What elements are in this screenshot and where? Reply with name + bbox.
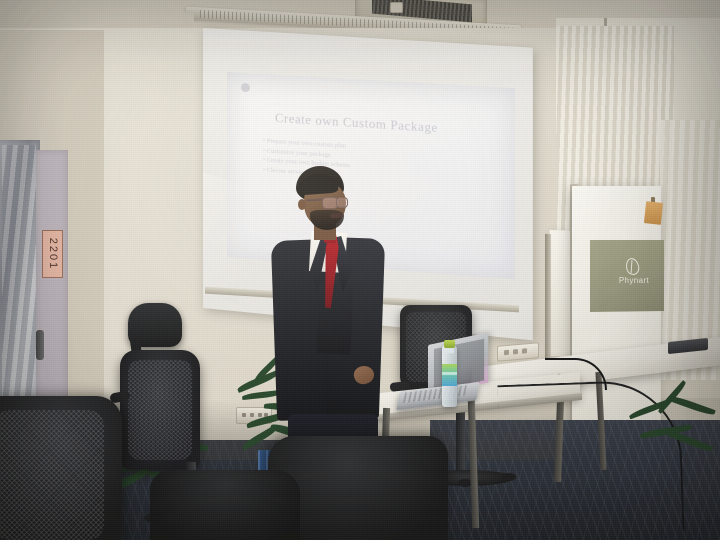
sticky-note <box>644 201 663 225</box>
water-bottle-cap[interactable] <box>444 340 455 348</box>
flipchart-edge <box>545 234 551 360</box>
office-chair-foreground[interactable] <box>150 470 300 540</box>
projector-screen-fold <box>203 172 239 304</box>
socket-hole-icon <box>504 350 509 355</box>
brand-name: Phynart <box>612 276 656 285</box>
socket-hole-icon <box>522 348 527 353</box>
office-chair-mesh <box>128 360 192 460</box>
slide-title: Create own Custom Package <box>275 111 502 140</box>
door-room-number-plate: 2201 <box>42 230 63 278</box>
eyeglasses-lens-icon <box>336 197 348 208</box>
door-handle[interactable] <box>36 330 44 360</box>
slide-logo-icon <box>241 83 250 93</box>
office-chair-post <box>456 412 465 474</box>
leaf-icon <box>668 430 713 454</box>
ac-vent-knob <box>390 2 403 13</box>
water-bottle-label-stripe <box>442 372 457 375</box>
water-bottle-label <box>442 364 457 386</box>
door-room-number: 2201 <box>43 231 62 277</box>
photo-scene: Create own Custom Package Prepare your o… <box>0 0 720 540</box>
leaf-icon <box>668 394 715 417</box>
office-chair-mesh <box>0 410 104 540</box>
ear <box>298 199 306 210</box>
suit-vest <box>316 283 354 355</box>
socket-hole-icon <box>513 349 518 354</box>
plant-foliage <box>628 392 720 478</box>
